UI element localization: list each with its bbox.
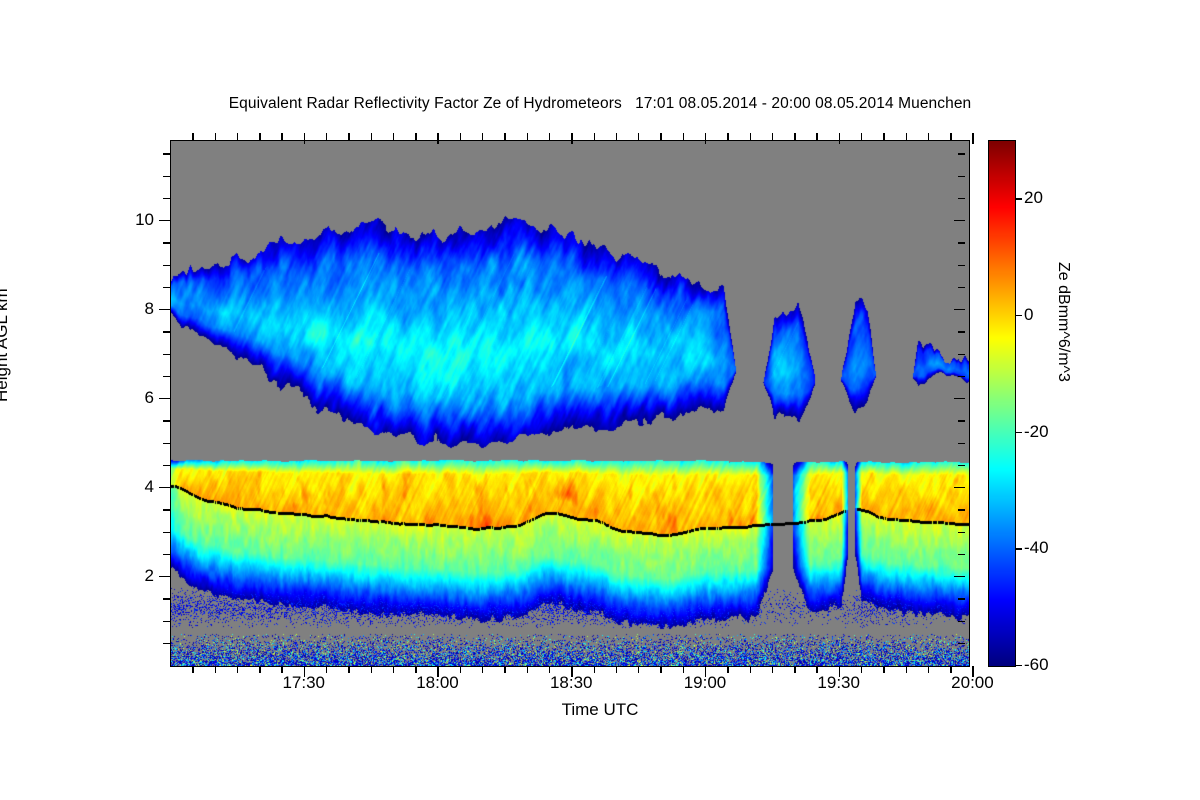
- x-tick-minor-top: [727, 133, 728, 140]
- x-tick-minor: [928, 666, 929, 673]
- x-tick-major-top: [705, 133, 706, 144]
- y-tick-major-right: [954, 398, 965, 399]
- y-tick-minor: [163, 176, 170, 177]
- x-tick-minor: [348, 666, 349, 673]
- x-axis-title: Time UTC: [0, 700, 1200, 720]
- colorbar-gradient: [989, 141, 1015, 666]
- x-tick-minor: [660, 666, 661, 673]
- x-tick-minor-top: [950, 133, 951, 140]
- colorbar-tick-label: 0: [1024, 305, 1033, 325]
- y-tick-major-right: [954, 576, 965, 577]
- colorbar-tick: [1016, 432, 1022, 433]
- x-tick-minor: [504, 666, 505, 673]
- x-tick-minor-top: [281, 133, 282, 140]
- x-tick-label: 20:00: [951, 673, 994, 693]
- x-tick-minor: [371, 666, 372, 673]
- colorbar-tick-label: -60: [1024, 655, 1049, 675]
- y-tick-minor: [163, 242, 170, 243]
- x-tick-minor-top: [504, 133, 505, 140]
- x-tick-minor: [727, 666, 728, 673]
- y-tick-label: 4: [114, 477, 154, 497]
- x-tick-minor-top: [371, 133, 372, 140]
- y-tick-minor: [163, 621, 170, 622]
- y-tick-minor-right: [958, 287, 965, 288]
- y-tick-minor: [163, 153, 170, 154]
- x-tick-minor-top: [816, 133, 817, 140]
- y-tick-major-right: [954, 309, 965, 310]
- y-tick-major-right: [954, 487, 965, 488]
- x-tick-minor: [683, 666, 684, 673]
- x-tick-minor: [326, 666, 327, 673]
- colorbar-tick-label: 20: [1024, 188, 1043, 208]
- y-tick-minor: [163, 643, 170, 644]
- x-tick-minor-top: [638, 133, 639, 140]
- x-tick-minor: [192, 666, 193, 673]
- y-tick-minor-right: [958, 242, 965, 243]
- x-tick-minor: [549, 666, 550, 673]
- heatmap-canvas: [171, 141, 969, 666]
- colorbar-tick: [1016, 548, 1022, 549]
- x-tick-minor-top: [928, 133, 929, 140]
- x-tick-major-top: [437, 133, 438, 144]
- y-tick-minor: [163, 265, 170, 266]
- x-tick-minor-top: [348, 133, 349, 140]
- x-tick-minor: [393, 666, 394, 673]
- x-tick-minor-top: [750, 133, 751, 140]
- x-tick-minor: [215, 666, 216, 673]
- x-tick-minor: [281, 666, 282, 673]
- x-tick-minor-top: [482, 133, 483, 140]
- y-tick-minor: [163, 287, 170, 288]
- x-tick-minor: [772, 666, 773, 673]
- x-tick-minor-top: [415, 133, 416, 140]
- x-tick-minor: [750, 666, 751, 673]
- y-tick-major-right: [954, 220, 965, 221]
- y-tick-label: 2: [114, 566, 154, 586]
- y-tick-minor-right: [958, 153, 965, 154]
- x-tick-minor: [816, 666, 817, 673]
- x-tick-label: 18:00: [416, 673, 459, 693]
- figure-title: Equivalent Radar Reflectivity Factor Ze …: [0, 95, 1200, 113]
- x-tick-minor-top: [460, 133, 461, 140]
- x-tick-minor-top: [393, 133, 394, 140]
- x-tick-minor-top: [906, 133, 907, 140]
- y-tick-minor-right: [958, 532, 965, 533]
- y-tick-minor-right: [958, 621, 965, 622]
- x-tick-minor-top: [326, 133, 327, 140]
- x-tick-minor-top: [861, 133, 862, 140]
- x-tick-minor: [527, 666, 528, 673]
- x-tick-major-top: [839, 133, 840, 144]
- y-tick-minor: [163, 465, 170, 466]
- y-tick-minor-right: [958, 465, 965, 466]
- x-tick-label: 19:00: [684, 673, 727, 693]
- y-tick-label: 10: [114, 210, 154, 230]
- x-tick-minor: [415, 666, 416, 673]
- colorbar-tick: [1016, 315, 1022, 316]
- y-tick-minor: [163, 509, 170, 510]
- x-tick-minor-top: [794, 133, 795, 140]
- y-tick-minor: [163, 443, 170, 444]
- y-tick-minor: [163, 354, 170, 355]
- colorbar-title: Ze dBmm^6/m^3: [1054, 262, 1072, 382]
- y-axis-title: Height AGL km: [0, 288, 12, 402]
- x-tick-minor-top: [660, 133, 661, 140]
- y-tick-major: [159, 398, 170, 399]
- x-tick-minor: [482, 666, 483, 673]
- colorbar: [988, 140, 1016, 667]
- y-tick-minor: [163, 376, 170, 377]
- x-tick-minor-top: [594, 133, 595, 140]
- y-tick-label: 6: [114, 388, 154, 408]
- y-tick-minor-right: [958, 420, 965, 421]
- y-tick-major: [159, 309, 170, 310]
- y-tick-minor-right: [958, 643, 965, 644]
- y-tick-minor-right: [958, 598, 965, 599]
- y-tick-minor: [163, 554, 170, 555]
- y-tick-minor-right: [958, 376, 965, 377]
- x-tick-minor-top: [259, 133, 260, 140]
- y-tick-minor: [163, 532, 170, 533]
- x-tick-minor-top: [237, 133, 238, 140]
- radar-heatmap-plot: [170, 140, 970, 667]
- y-tick-major: [159, 487, 170, 488]
- x-tick-minor: [906, 666, 907, 673]
- y-tick-minor-right: [958, 443, 965, 444]
- colorbar-tick-label: -40: [1024, 538, 1049, 558]
- x-tick-minor: [259, 666, 260, 673]
- x-tick-label: 17:30: [282, 673, 325, 693]
- y-tick-minor-right: [958, 198, 965, 199]
- y-tick-minor-right: [958, 331, 965, 332]
- x-tick-minor: [861, 666, 862, 673]
- figure-root: Equivalent Radar Reflectivity Factor Ze …: [0, 0, 1200, 800]
- x-tick-minor: [460, 666, 461, 673]
- x-tick-minor: [883, 666, 884, 673]
- y-tick-minor-right: [958, 554, 965, 555]
- x-tick-minor-top: [215, 133, 216, 140]
- x-tick-minor: [638, 666, 639, 673]
- x-tick-minor-top: [616, 133, 617, 140]
- colorbar-tick: [1016, 198, 1022, 199]
- y-tick-minor: [163, 420, 170, 421]
- x-tick-minor-top: [883, 133, 884, 140]
- y-tick-minor-right: [958, 509, 965, 510]
- x-tick-label: 19:30: [817, 673, 860, 693]
- y-tick-minor-right: [958, 354, 965, 355]
- x-tick-minor-top: [527, 133, 528, 140]
- y-tick-minor-right: [958, 176, 965, 177]
- x-tick-minor: [616, 666, 617, 673]
- y-tick-major: [159, 220, 170, 221]
- x-tick-major-top: [571, 133, 572, 144]
- x-tick-minor: [594, 666, 595, 673]
- x-tick-major-top: [304, 133, 305, 144]
- y-tick-minor: [163, 331, 170, 332]
- x-tick-minor: [237, 666, 238, 673]
- x-tick-major-top: [972, 133, 973, 144]
- colorbar-tick-label: -20: [1024, 422, 1049, 442]
- x-tick-minor-top: [192, 133, 193, 140]
- y-tick-label: 8: [114, 299, 154, 319]
- y-tick-minor: [163, 198, 170, 199]
- x-tick-minor-top: [683, 133, 684, 140]
- colorbar-tick: [1016, 665, 1022, 666]
- y-tick-minor: [163, 598, 170, 599]
- x-tick-minor-top: [549, 133, 550, 140]
- x-tick-minor-top: [772, 133, 773, 140]
- y-tick-major: [159, 576, 170, 577]
- x-tick-minor: [794, 666, 795, 673]
- x-tick-minor: [950, 666, 951, 673]
- y-tick-minor-right: [958, 265, 965, 266]
- x-tick-label: 18:30: [550, 673, 593, 693]
